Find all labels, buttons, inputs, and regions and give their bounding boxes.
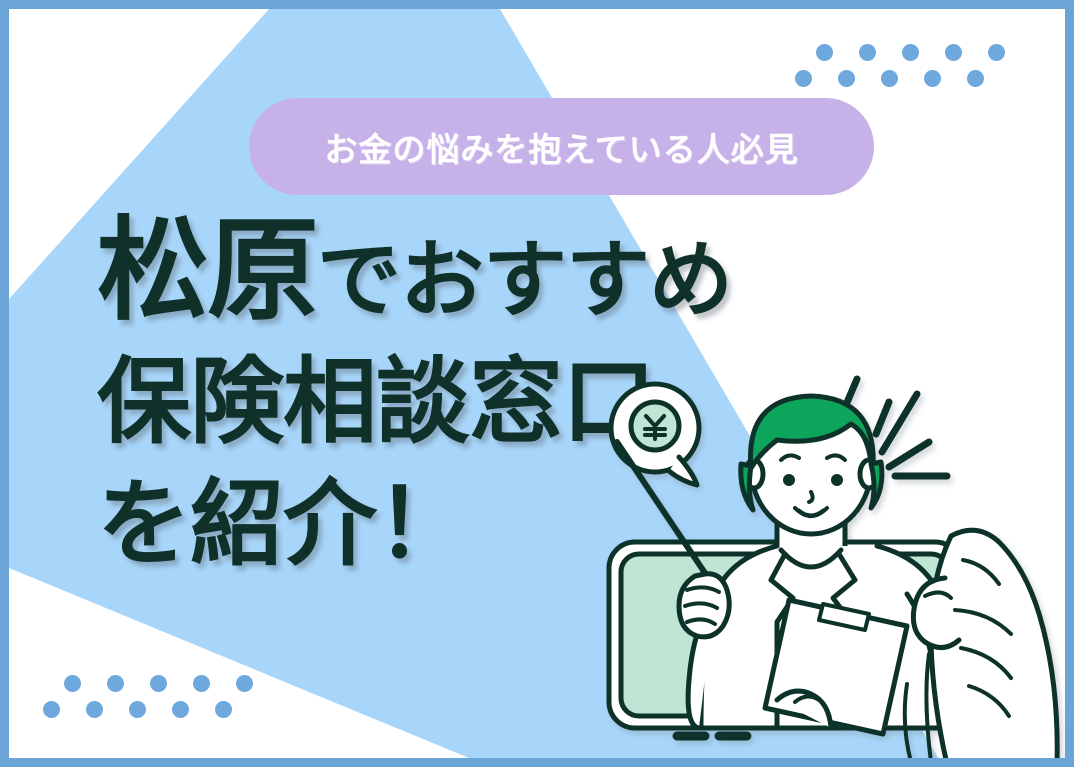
yen-speech-bubble [611, 384, 699, 485]
dot [150, 675, 167, 692]
dot-row [795, 70, 1031, 87]
dot [43, 701, 60, 718]
dot [967, 70, 984, 87]
dot [988, 44, 1005, 61]
dot [795, 70, 812, 87]
corner-triangle-bottom-left [9, 568, 469, 758]
dot [945, 44, 962, 61]
advisor-illustration [599, 364, 1065, 758]
tagline-badge: お金の悩みを抱えている人必見 [249, 98, 874, 195]
dot [924, 70, 941, 87]
left-hand [679, 574, 729, 637]
dot-row [64, 675, 279, 692]
clipboard [765, 600, 907, 734]
dot [172, 701, 189, 718]
dot [193, 675, 210, 692]
dot [859, 44, 876, 61]
dot-grid-bottom-left [64, 675, 279, 718]
tagline-badge-text: お金の悩みを抱えている人必見 [324, 123, 798, 171]
dot [129, 701, 146, 718]
dot [881, 70, 898, 87]
dot-row [816, 44, 1031, 61]
dot-grid-top-right [816, 44, 1031, 87]
dot [816, 44, 833, 61]
dot-row [43, 701, 279, 718]
dot [64, 675, 81, 692]
headline-line-1: 松原でおすすめ [97, 214, 797, 328]
dot [215, 701, 232, 718]
hero-banner: お金の悩みを抱えている人必見 松原でおすすめ 保険相談窓口 を紹介！ [0, 0, 1074, 767]
dot [838, 70, 855, 87]
dot [236, 675, 253, 692]
dot [86, 701, 103, 718]
dot [902, 44, 919, 61]
banner-stage: お金の悩みを抱えている人必見 松原でおすすめ 保険相談窓口 を紹介！ [9, 9, 1065, 758]
headline-emphasis: 松原 [97, 208, 317, 333]
dot [107, 675, 124, 692]
woman-head [741, 396, 882, 534]
headline-line-1-rest: でおすすめ [317, 233, 732, 327]
